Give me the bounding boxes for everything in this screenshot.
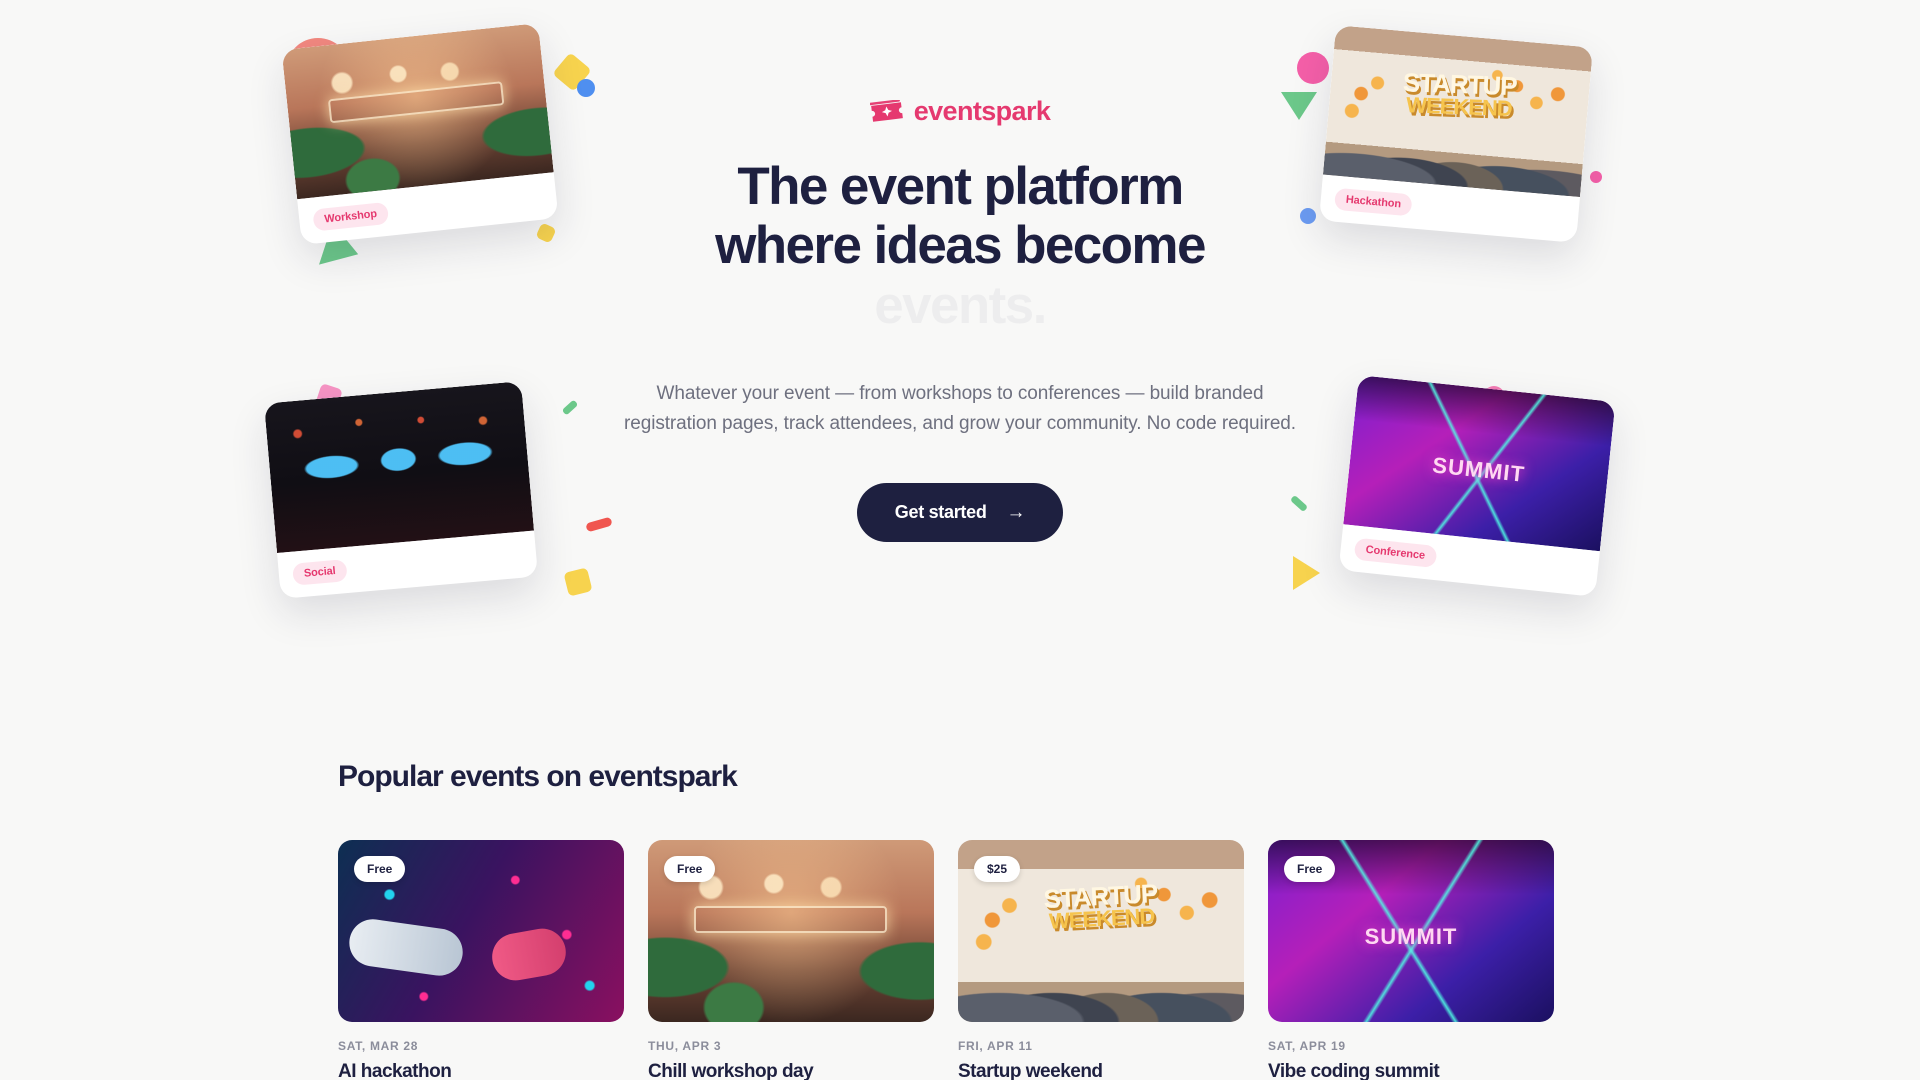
floating-card-workshop[interactable]: Workshop [281, 23, 558, 245]
hero-subtitle: Whatever your event — from workshops to … [610, 379, 1310, 439]
event-title: AI hackathon [338, 1061, 624, 1080]
hero-section: Workshop STARTUPWEEKEND Hackathon Soc [0, 0, 1920, 700]
brand-logo[interactable]: eventspark [610, 96, 1310, 127]
price-badge: $25 [974, 856, 1020, 882]
event-image: Free SUMMIT [1268, 840, 1554, 1022]
arrow-right-icon: → [1007, 503, 1026, 522]
event-card[interactable]: Free SAT, MAR 28 AI hackathon [338, 840, 624, 1080]
category-chip: Conference [1354, 538, 1437, 568]
event-card[interactable]: $25 STARTUPWEEKEND FRI, APR 11 Startup w… [958, 840, 1244, 1080]
event-date: SAT, APR 19 [1268, 1039, 1554, 1053]
decor-red-dash [585, 517, 612, 533]
decor-green-check-bl [562, 400, 579, 416]
floating-card-image: STARTUPWEEKEND [1323, 25, 1593, 197]
floating-card-conference[interactable]: SUMMIT Conference [1338, 375, 1615, 597]
ticket-sparkle-icon [870, 100, 904, 124]
price-badge: Free [1284, 856, 1335, 882]
get-started-label: Get started [895, 502, 987, 523]
section-title: Popular events on eventspark [338, 760, 1920, 794]
hero-content: eventspark The event platform where idea… [610, 96, 1310, 542]
event-title: Startup weekend [958, 1061, 1244, 1080]
event-card[interactable]: Free SUMMIT SAT, APR 19 Vibe coding summ… [1268, 840, 1554, 1080]
event-image: Free [648, 840, 934, 1022]
decor-pink-circle [1297, 52, 1329, 84]
get-started-button[interactable]: Get started → [857, 483, 1063, 542]
page-title: The event platform where ideas become ev… [610, 157, 1310, 335]
brand-name: eventspark [914, 96, 1051, 127]
floating-card-image [264, 381, 534, 553]
event-title: Chill workshop day [648, 1061, 934, 1080]
price-badge: Free [664, 856, 715, 882]
event-date: SAT, MAR 28 [338, 1039, 624, 1053]
floating-card-image: SUMMIT [1343, 375, 1615, 551]
events-grid: Free SAT, MAR 28 AI hackathon Free THU, … [338, 840, 1920, 1080]
event-image: Free [338, 840, 624, 1022]
event-image: $25 STARTUPWEEKEND [958, 840, 1244, 1022]
landing-page: Workshop STARTUPWEEKEND Hackathon Soc [0, 0, 1920, 1080]
floating-card-hackathon[interactable]: STARTUPWEEKEND Hackathon [1319, 25, 1593, 243]
event-date: THU, APR 3 [648, 1039, 934, 1053]
decor-yellow-square-bl [563, 567, 592, 596]
event-title: Vibe coding summit [1268, 1061, 1554, 1080]
event-card[interactable]: Free THU, APR 3 Chill workshop day [648, 840, 934, 1080]
headline-line-2: where ideas become [715, 216, 1205, 275]
headline-line-1: The event platform [737, 157, 1182, 216]
popular-events-section: Popular events on eventspark Free SAT, M… [0, 760, 1920, 1080]
price-badge: Free [354, 856, 405, 882]
category-chip: Workshop [312, 202, 389, 232]
event-date: FRI, APR 11 [958, 1039, 1244, 1053]
decor-yellow-chip-left [535, 222, 556, 243]
decor-blue-dot [577, 79, 595, 97]
decor-pink-dot-card [1590, 171, 1602, 183]
floating-card-social[interactable]: Social [264, 381, 538, 599]
floating-card-image [281, 23, 553, 199]
category-chip: Social [292, 559, 348, 586]
headline-line-3-fading: events. [874, 276, 1045, 335]
decor-yellow-triangle-br [1293, 556, 1320, 590]
category-chip: Hackathon [1334, 188, 1413, 217]
